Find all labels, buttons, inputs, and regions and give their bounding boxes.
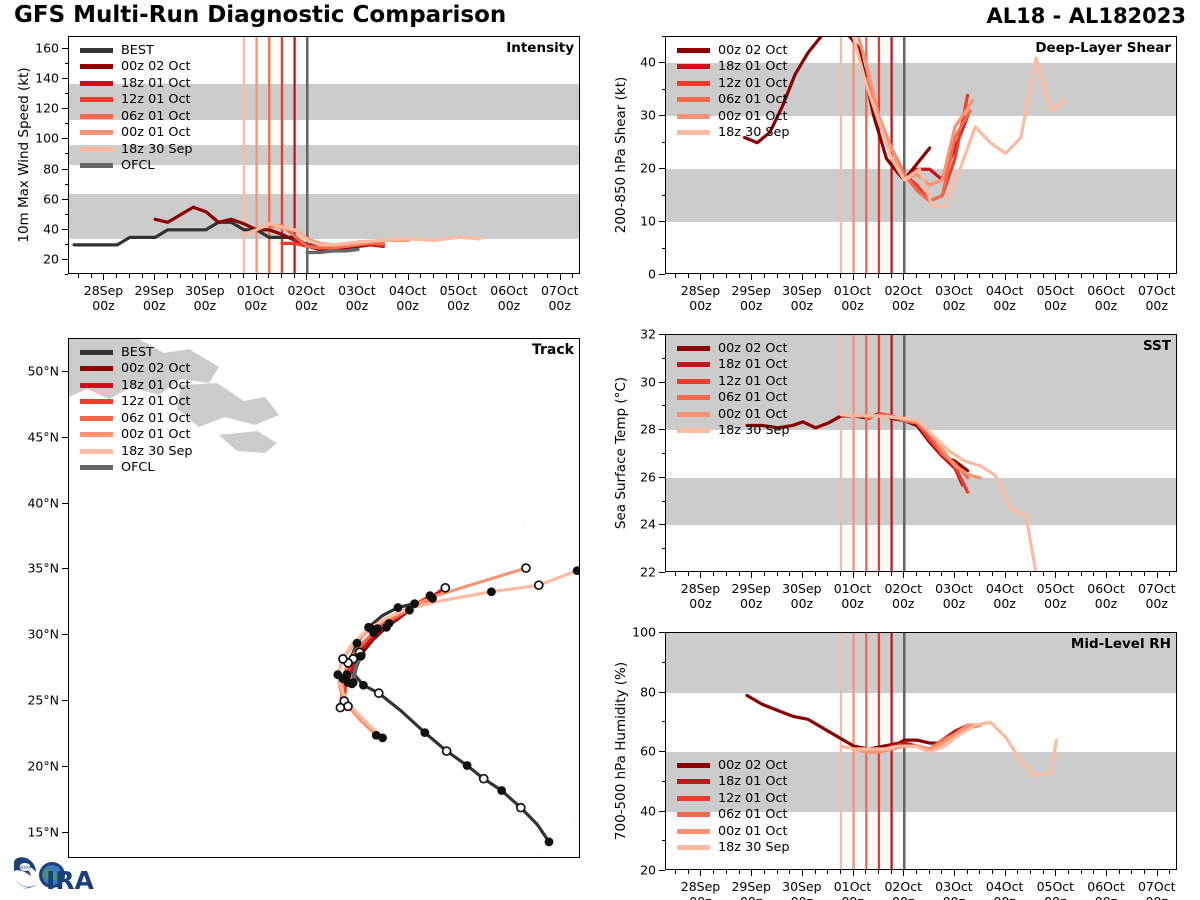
x-tick bbox=[1106, 870, 1107, 876]
track-marker-filled bbox=[545, 837, 554, 846]
x-tick-minor bbox=[992, 274, 993, 278]
legend-sst: 00z 02 Oct18z 01 Oct12z 01 Oct06z 01 Oct… bbox=[677, 340, 790, 439]
x-tick-minor bbox=[688, 870, 689, 874]
legend-label: BEST bbox=[121, 345, 154, 360]
y-tick-label: 40 bbox=[43, 221, 59, 236]
lat-tick-label: 20°N bbox=[27, 758, 59, 773]
y-tick-label: 60 bbox=[43, 191, 59, 206]
legend-label: 00z 01 Oct bbox=[718, 109, 788, 124]
x-tick-minor bbox=[929, 870, 930, 874]
x-tick-label: 30Sep00z bbox=[782, 879, 821, 900]
y-tick-minor bbox=[662, 781, 666, 782]
x-tick-minor bbox=[916, 274, 917, 278]
track-marker-filled bbox=[394, 603, 403, 612]
panel-title-sst: SST bbox=[1143, 338, 1171, 354]
x-tick-minor bbox=[764, 572, 765, 576]
legend-item: 18z 30 Sep bbox=[80, 443, 193, 460]
legend-swatch bbox=[80, 163, 113, 168]
y-tick-label: 22 bbox=[640, 565, 656, 580]
x-tick-minor bbox=[789, 274, 790, 278]
lat-tick-label: 25°N bbox=[27, 693, 59, 708]
track-marker-open bbox=[344, 702, 352, 710]
y-axis-label-rh: 700-500 hPa Humidity (%) bbox=[613, 662, 629, 840]
panel-sst: SST22242628303228Sep00z29Sep00z30Sep00z0… bbox=[665, 334, 1177, 572]
legend-item: 18z 01 Oct bbox=[80, 75, 193, 92]
legend-swatch bbox=[677, 48, 710, 53]
x-tick bbox=[560, 274, 561, 280]
track-marker-filled bbox=[428, 594, 437, 603]
x-tick bbox=[751, 870, 752, 876]
legend-item: 12z 01 Oct bbox=[677, 75, 790, 92]
y-tick bbox=[659, 382, 665, 383]
x-tick-minor bbox=[992, 572, 993, 576]
x-tick-label: 30Sep00z bbox=[782, 283, 821, 313]
x-tick-minor bbox=[1068, 572, 1069, 576]
cira-logo: IRA bbox=[39, 862, 95, 895]
x-tick bbox=[903, 274, 904, 280]
legend-swatch bbox=[677, 130, 710, 135]
panel-title-intensity: Intensity bbox=[506, 40, 574, 56]
legend-label: 06z 01 Oct bbox=[121, 411, 191, 426]
track-marker-filled bbox=[420, 728, 429, 737]
x-tick-minor bbox=[218, 274, 219, 278]
y-tick-minor bbox=[65, 244, 69, 245]
x-tick-label: 03Oct00z bbox=[935, 879, 973, 900]
legend-item: BEST bbox=[80, 344, 193, 361]
diagnostic-comparison-page: GFS Multi-Run Diagnostic Comparison AL18… bbox=[0, 0, 1200, 900]
x-tick-minor bbox=[420, 274, 421, 278]
x-tick-minor bbox=[1043, 274, 1044, 278]
legend-label: 00z 02 Oct bbox=[718, 43, 788, 58]
legend-label: 12z 01 Oct bbox=[718, 374, 788, 389]
legend-label: 18z 01 Oct bbox=[121, 378, 191, 393]
x-tick-minor bbox=[764, 274, 765, 278]
track-marker-open bbox=[336, 704, 344, 712]
x-tick-minor bbox=[827, 572, 828, 576]
x-tick-minor bbox=[739, 572, 740, 576]
x-tick-minor bbox=[840, 870, 841, 874]
track-marker-open bbox=[443, 747, 451, 755]
x-tick bbox=[700, 274, 701, 280]
y-tick-label: 20 bbox=[640, 863, 656, 878]
y-tick bbox=[659, 62, 665, 63]
x-tick-minor bbox=[777, 572, 778, 576]
legend-item: 18z 30 Sep bbox=[677, 840, 790, 857]
x-tick-minor bbox=[840, 572, 841, 576]
legend-swatch bbox=[677, 428, 710, 433]
legend-label: 06z 01 Oct bbox=[718, 807, 788, 822]
x-tick-minor bbox=[332, 274, 333, 278]
legend-label: 18z 30 Sep bbox=[718, 840, 790, 855]
x-tick-minor bbox=[726, 870, 727, 874]
x-tick bbox=[853, 870, 854, 876]
legend-swatch bbox=[80, 48, 113, 53]
y-tick bbox=[62, 199, 68, 200]
y-tick-label: 100 bbox=[35, 131, 59, 146]
x-tick-label: 03Oct00z bbox=[935, 581, 973, 611]
y-tick-label: 0 bbox=[648, 267, 656, 282]
y-tick-label: 160 bbox=[35, 41, 59, 56]
x-tick-minor bbox=[1030, 274, 1031, 278]
y-tick-label: 30 bbox=[640, 374, 656, 389]
legend-label: 06z 01 Oct bbox=[718, 92, 788, 107]
legend-label: 00z 01 Oct bbox=[718, 824, 788, 839]
x-tick bbox=[954, 870, 955, 876]
legend-item: 18z 30 Sep bbox=[677, 423, 790, 440]
x-tick-minor bbox=[967, 870, 968, 874]
x-tick-minor bbox=[739, 870, 740, 874]
series-18z-30-sep bbox=[841, 722, 1056, 776]
legend-label: 12z 01 Oct bbox=[718, 791, 788, 806]
lat-tick-label: 15°N bbox=[27, 824, 59, 839]
legend-swatch bbox=[677, 829, 710, 834]
x-tick-minor bbox=[1131, 870, 1132, 874]
legend-swatch bbox=[677, 845, 710, 850]
track-18z-30-sep bbox=[338, 454, 580, 738]
legend-label: 18z 01 Oct bbox=[718, 59, 788, 74]
legend-swatch bbox=[80, 383, 113, 388]
x-tick bbox=[802, 870, 803, 876]
x-tick-label: 04Oct00z bbox=[986, 581, 1024, 611]
x-tick-minor bbox=[815, 870, 816, 874]
legend-swatch bbox=[80, 114, 113, 119]
track-marker-filled bbox=[463, 761, 472, 770]
x-tick-minor bbox=[91, 274, 92, 278]
x-tick-label: 29Sep00z bbox=[731, 581, 770, 611]
x-tick bbox=[1157, 274, 1158, 280]
legend-item: 00z 02 Oct bbox=[677, 42, 790, 59]
x-tick-label: 02Oct00z bbox=[884, 581, 922, 611]
legend-item: 00z 02 Oct bbox=[80, 59, 193, 76]
legend-item: 00z 01 Oct bbox=[677, 406, 790, 423]
x-tick-minor bbox=[180, 274, 181, 278]
x-tick-minor bbox=[865, 274, 866, 278]
x-tick-minor bbox=[1043, 572, 1044, 576]
legend-item: 12z 01 Oct bbox=[80, 92, 193, 109]
legend-label: 18z 30 Sep bbox=[718, 125, 790, 140]
legend-intensity: BEST00z 02 Oct18z 01 Oct12z 01 Oct06z 01… bbox=[80, 42, 193, 174]
legend-swatch bbox=[677, 379, 710, 384]
x-tick bbox=[1055, 870, 1056, 876]
x-tick-label: 01Oct00z bbox=[237, 283, 275, 313]
x-tick bbox=[700, 572, 701, 578]
x-tick-minor bbox=[891, 870, 892, 874]
x-tick-minor bbox=[1169, 572, 1170, 576]
x-tick-minor bbox=[827, 274, 828, 278]
x-tick-label: 01Oct00z bbox=[834, 283, 872, 313]
x-tick bbox=[903, 870, 904, 876]
track-marker-open bbox=[441, 584, 449, 592]
lat-tick-label: 45°N bbox=[27, 429, 59, 444]
x-tick-minor bbox=[382, 274, 383, 278]
x-tick-label: 29Sep00z bbox=[731, 283, 770, 313]
legend-rh: 00z 02 Oct18z 01 Oct12z 01 Oct06z 01 Oct… bbox=[677, 757, 790, 856]
series-00z-02-oct bbox=[747, 695, 942, 749]
legend-item: 18z 30 Sep bbox=[677, 125, 790, 142]
x-tick-label: 07Oct00z bbox=[1138, 283, 1176, 313]
legend-item: OFCL bbox=[80, 158, 193, 175]
x-tick-minor bbox=[1144, 572, 1145, 576]
x-tick-minor bbox=[713, 572, 714, 576]
x-tick-minor bbox=[142, 274, 143, 278]
legend-track: BEST00z 02 Oct18z 01 Oct12z 01 Oct06z 01… bbox=[80, 344, 193, 476]
x-tick-minor bbox=[941, 572, 942, 576]
legend-label: 18z 01 Oct bbox=[718, 774, 788, 789]
x-tick bbox=[205, 274, 206, 280]
legend-label: 18z 30 Sep bbox=[121, 142, 193, 157]
x-tick-minor bbox=[941, 274, 942, 278]
y-tick bbox=[659, 632, 665, 633]
legend-item: 06z 01 Oct bbox=[677, 807, 790, 824]
legend-item: 00z 02 Oct bbox=[677, 757, 790, 774]
x-tick-minor bbox=[344, 274, 345, 278]
y-tick-minor bbox=[662, 405, 666, 406]
lat-tick bbox=[62, 568, 68, 569]
x-tick-label: 28Sep00z bbox=[84, 283, 123, 313]
y-tick-label: 24 bbox=[640, 517, 656, 532]
track-marker-filled bbox=[349, 678, 358, 687]
series-18z-30-sep bbox=[841, 415, 1036, 572]
panel-title-shear: Deep-Layer Shear bbox=[1035, 40, 1171, 56]
y-tick-minor bbox=[662, 358, 666, 359]
x-tick-minor bbox=[1017, 572, 1018, 576]
x-tick-minor bbox=[675, 274, 676, 278]
x-tick-minor bbox=[789, 572, 790, 576]
lat-tick bbox=[62, 832, 68, 833]
lat-tick-label: 50°N bbox=[27, 363, 59, 378]
x-tick-label: 06Oct00z bbox=[1087, 283, 1125, 313]
y-tick bbox=[659, 221, 665, 222]
y-tick-label: 120 bbox=[35, 101, 59, 116]
x-tick-minor bbox=[815, 572, 816, 576]
x-tick-label: 06Oct00z bbox=[1087, 879, 1125, 900]
track-marker-open bbox=[522, 564, 530, 572]
x-tick-minor bbox=[1169, 274, 1170, 278]
y-tick bbox=[62, 138, 68, 139]
x-tick-minor bbox=[675, 870, 676, 874]
legend-swatch bbox=[677, 362, 710, 367]
x-tick-label: 29Sep00z bbox=[134, 283, 173, 313]
legend-label: 00z 02 Oct bbox=[121, 361, 191, 376]
legend-item: 18z 01 Oct bbox=[677, 357, 790, 374]
legend-label: 00z 02 Oct bbox=[718, 758, 788, 773]
x-tick-minor bbox=[1144, 274, 1145, 278]
x-tick-minor bbox=[916, 572, 917, 576]
track-marker-filled bbox=[573, 566, 580, 575]
legend-item: 06z 01 Oct bbox=[80, 108, 193, 125]
legend-label: 00z 01 Oct bbox=[121, 427, 191, 442]
x-tick-minor bbox=[739, 274, 740, 278]
x-tick bbox=[853, 274, 854, 280]
x-tick-minor bbox=[395, 274, 396, 278]
x-tick-minor bbox=[1043, 870, 1044, 874]
legend-label: 06z 01 Oct bbox=[718, 390, 788, 405]
x-tick-label: 28Sep00z bbox=[681, 581, 720, 611]
legend-swatch bbox=[80, 465, 113, 470]
y-tick-label: 20 bbox=[43, 251, 59, 266]
x-tick-label: 03Oct00z bbox=[935, 283, 973, 313]
track-marker-open bbox=[535, 581, 543, 589]
y-tick-minor bbox=[65, 214, 69, 215]
x-tick bbox=[256, 274, 257, 280]
y-tick bbox=[659, 274, 665, 275]
track-marker-filled bbox=[385, 619, 394, 628]
track-marker-open bbox=[517, 804, 525, 812]
x-tick bbox=[1106, 572, 1107, 578]
legend-item: 00z 01 Oct bbox=[677, 108, 790, 125]
series-18z-01-oct bbox=[892, 416, 963, 485]
x-tick-label: 30Sep00z bbox=[782, 581, 821, 611]
y-tick bbox=[659, 477, 665, 478]
x-tick bbox=[1005, 274, 1006, 280]
x-tick bbox=[802, 572, 803, 578]
y-tick-minor bbox=[662, 840, 666, 841]
legend-swatch bbox=[80, 81, 113, 86]
track-marker-filled bbox=[405, 606, 414, 615]
y-tick-label: 30 bbox=[640, 108, 656, 123]
x-tick bbox=[1055, 274, 1056, 280]
x-tick-minor bbox=[891, 274, 892, 278]
legend-label: 00z 02 Oct bbox=[718, 341, 788, 356]
x-tick-minor bbox=[713, 870, 714, 874]
x-tick-label: 07Oct00z bbox=[1138, 581, 1176, 611]
x-tick bbox=[1005, 870, 1006, 876]
x-tick-label: 02Oct00z bbox=[884, 879, 922, 900]
legend-item: 12z 01 Oct bbox=[677, 790, 790, 807]
y-tick-minor bbox=[662, 548, 666, 549]
svg-text:IRA: IRA bbox=[46, 866, 95, 895]
x-tick-minor bbox=[827, 870, 828, 874]
x-tick-minor bbox=[129, 274, 130, 278]
x-tick-minor bbox=[1017, 274, 1018, 278]
x-tick-label: 06Oct00z bbox=[490, 283, 528, 313]
y-tick-minor bbox=[662, 501, 666, 502]
x-tick-label: 02Oct00z bbox=[287, 283, 325, 313]
legend-item: 12z 01 Oct bbox=[677, 373, 790, 390]
lat-tick bbox=[62, 437, 68, 438]
legend-swatch bbox=[677, 412, 710, 417]
y-tick bbox=[659, 429, 665, 430]
x-tick-minor bbox=[1119, 274, 1120, 278]
y-tick-minor bbox=[662, 721, 666, 722]
legend-label: 18z 01 Oct bbox=[718, 357, 788, 372]
x-tick-minor bbox=[840, 274, 841, 278]
x-tick bbox=[853, 572, 854, 578]
x-tick-minor bbox=[1144, 870, 1145, 874]
y-tick bbox=[659, 572, 665, 573]
x-tick-minor bbox=[815, 274, 816, 278]
x-tick-minor bbox=[777, 870, 778, 874]
x-tick bbox=[700, 870, 701, 876]
track-marker-filled bbox=[487, 587, 496, 596]
panel-title-rh: Mid-Level RH bbox=[1071, 636, 1171, 652]
panel-title-track: Track bbox=[532, 342, 574, 358]
x-tick bbox=[154, 274, 155, 280]
track-marker-open bbox=[339, 655, 347, 663]
panel-track: Track15°N20°N25°N30°N35°N40°N45°N50°NBES… bbox=[68, 338, 580, 858]
legend-label: BEST bbox=[121, 43, 154, 58]
x-tick bbox=[751, 572, 752, 578]
x-tick-minor bbox=[1169, 870, 1170, 874]
x-tick bbox=[1055, 572, 1056, 578]
x-tick-minor bbox=[713, 274, 714, 278]
legend-item: 00z 01 Oct bbox=[677, 823, 790, 840]
x-tick bbox=[1157, 572, 1158, 578]
y-tick-label: 140 bbox=[35, 71, 59, 86]
x-tick-minor bbox=[967, 274, 968, 278]
y-tick-minor bbox=[662, 248, 666, 249]
x-tick-minor bbox=[865, 870, 866, 874]
x-tick-minor bbox=[1093, 870, 1094, 874]
y-tick-label: 10 bbox=[640, 214, 656, 229]
x-tick-minor bbox=[446, 274, 447, 278]
x-tick-minor bbox=[1131, 274, 1132, 278]
legend-swatch bbox=[80, 449, 113, 454]
page-title: GFS Multi-Run Diagnostic Comparison bbox=[14, 2, 506, 28]
legend-item: OFCL bbox=[80, 460, 193, 477]
y-tick-minor bbox=[65, 63, 69, 64]
legend-swatch bbox=[80, 432, 113, 437]
x-tick-minor bbox=[1068, 274, 1069, 278]
x-tick bbox=[1157, 870, 1158, 876]
x-tick-label: 01Oct00z bbox=[834, 581, 872, 611]
legend-swatch bbox=[677, 395, 710, 400]
legend-item: BEST bbox=[80, 42, 193, 59]
legend-item: 18z 30 Sep bbox=[80, 141, 193, 158]
x-tick-minor bbox=[891, 572, 892, 576]
lat-tick bbox=[62, 700, 68, 701]
x-tick-minor bbox=[484, 274, 485, 278]
x-tick-label: 05Oct00z bbox=[1037, 879, 1075, 900]
x-tick-minor bbox=[572, 274, 573, 278]
y-tick bbox=[62, 259, 68, 260]
x-tick bbox=[954, 572, 955, 578]
lat-tick-label: 30°N bbox=[27, 627, 59, 642]
legend-swatch bbox=[80, 147, 113, 152]
x-tick bbox=[1005, 572, 1006, 578]
y-tick bbox=[659, 751, 665, 752]
x-tick-minor bbox=[522, 274, 523, 278]
y-tick-label: 40 bbox=[640, 803, 656, 818]
legend-label: 00z 02 Oct bbox=[121, 59, 191, 74]
x-tick-minor bbox=[979, 274, 980, 278]
x-tick-minor bbox=[268, 274, 269, 278]
x-tick-minor bbox=[294, 274, 295, 278]
x-tick-minor bbox=[1081, 274, 1082, 278]
y-axis-label-sst: Sea Surface Temp (°C) bbox=[613, 377, 629, 529]
lat-tick bbox=[62, 766, 68, 767]
x-tick bbox=[954, 274, 955, 280]
x-tick-minor bbox=[433, 274, 434, 278]
x-tick-minor bbox=[726, 572, 727, 576]
y-tick bbox=[62, 229, 68, 230]
y-tick-label: 100 bbox=[632, 625, 656, 640]
track-marker-open bbox=[375, 689, 383, 697]
legend-swatch bbox=[677, 796, 710, 801]
legend-swatch bbox=[80, 64, 113, 69]
x-tick-minor bbox=[496, 274, 497, 278]
x-tick-minor bbox=[243, 274, 244, 278]
logo-group: NOAA IRA bbox=[10, 855, 130, 897]
legend-label: 12z 01 Oct bbox=[121, 394, 191, 409]
legend-swatch bbox=[677, 64, 710, 69]
y-tick-minor bbox=[65, 123, 69, 124]
legend-item: 06z 01 Oct bbox=[80, 410, 193, 427]
legend-label: 12z 01 Oct bbox=[718, 76, 788, 91]
legend-item: 00z 01 Oct bbox=[80, 427, 193, 444]
x-tick-minor bbox=[1030, 870, 1031, 874]
legend-swatch bbox=[80, 350, 113, 355]
